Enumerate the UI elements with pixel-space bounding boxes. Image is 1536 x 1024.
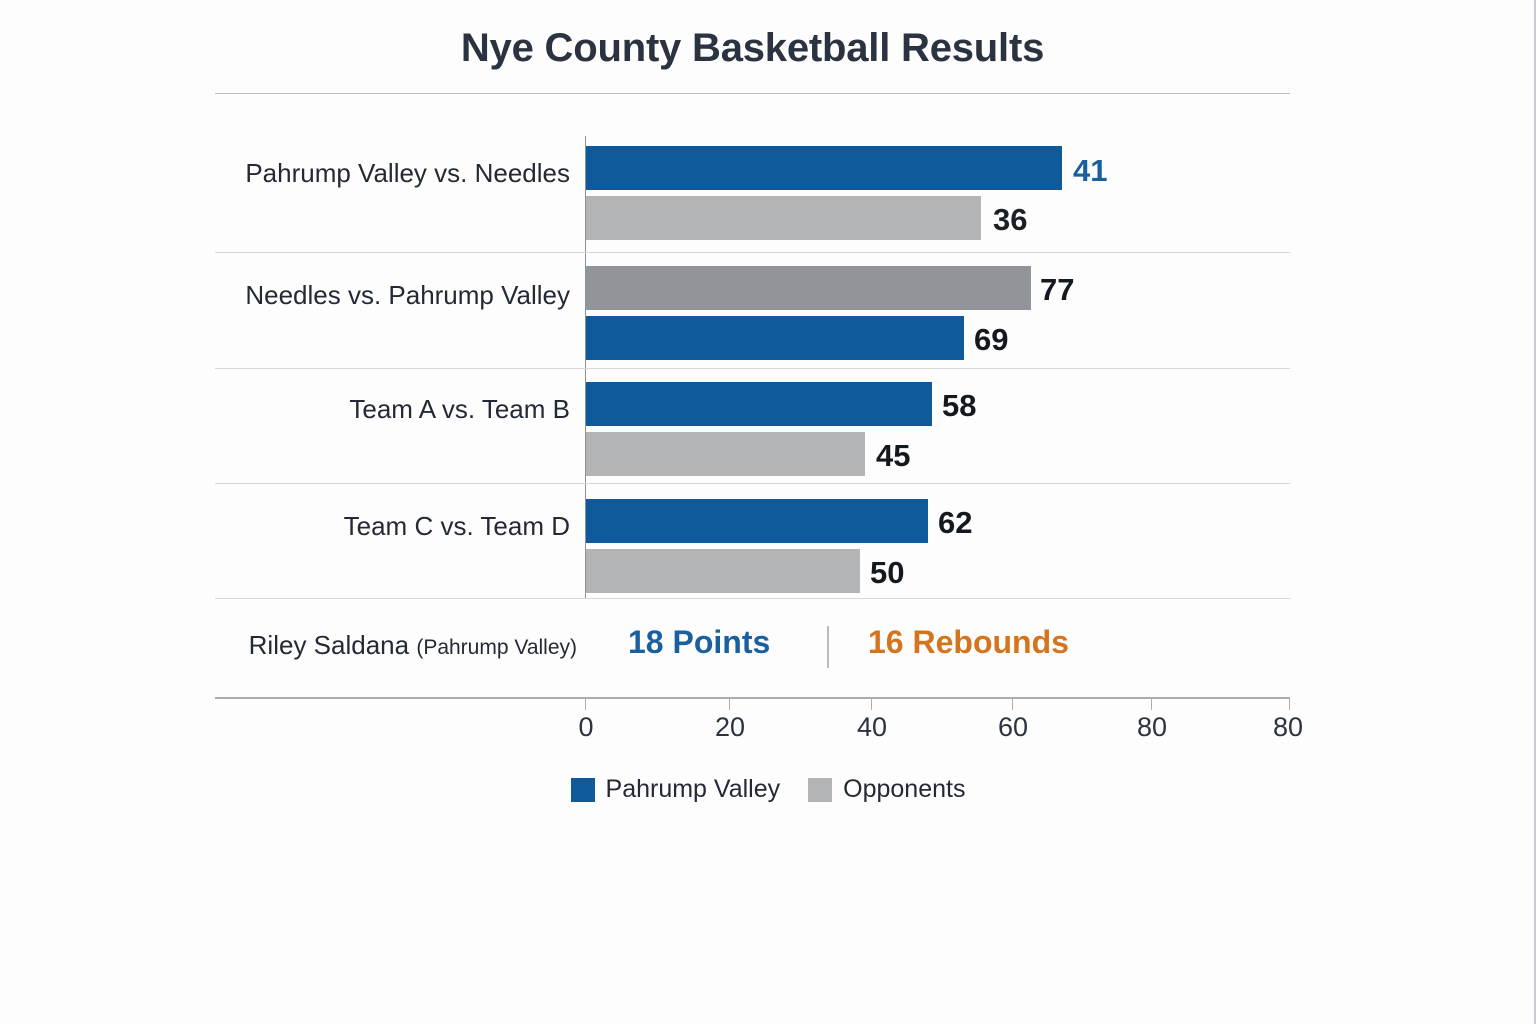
x-tick-label: 40: [857, 712, 887, 743]
player-name-label: Riley Saldana (Pahrump Valley): [215, 630, 577, 661]
legend-label: Opponents: [843, 775, 965, 804]
legend-item-opponents[interactable]: Opponents: [808, 775, 965, 804]
bar-group: Pahrump Valley vs. Needles 41 36: [0, 136, 1536, 254]
bar-value-label: 50: [870, 555, 904, 591]
x-tick-mark: [1289, 699, 1290, 710]
x-axis-line: [215, 697, 1290, 699]
bar-pahrump-valley[interactable]: [586, 499, 928, 543]
bar-group: Team A vs. Team B 58 45: [0, 370, 1536, 484]
bar-value-label: 36: [993, 202, 1027, 238]
bar-value-label: 69: [974, 322, 1008, 358]
bar-value-label: 41: [1073, 153, 1107, 189]
x-tick-label: 80: [1273, 712, 1303, 743]
bar-value-label: 62: [938, 505, 972, 541]
x-tick-label: 20: [715, 712, 745, 743]
group-divider: [215, 252, 1290, 253]
player-team-text: (Pahrump Valley): [416, 636, 577, 659]
bar-value-label: 58: [942, 388, 976, 424]
player-rebounds-stat: 16 Rebounds: [868, 624, 1069, 661]
x-tick-label: 60: [998, 712, 1028, 743]
bar-group: Team C vs. Team D 62 50: [0, 485, 1536, 599]
plot-area: Pahrump Valley vs. Needles 41 36 Needles…: [0, 0, 1536, 1024]
category-label: Team A vs. Team B: [215, 394, 570, 425]
legend-swatch-icon: [808, 778, 832, 802]
x-tick-mark: [1012, 699, 1013, 710]
x-tick-mark: [871, 699, 872, 710]
bar-pahrump-valley[interactable]: [586, 146, 1062, 190]
legend-swatch-icon: [571, 778, 595, 802]
bar-value-label: 77: [1040, 272, 1074, 308]
bar-opponents[interactable]: [586, 432, 865, 476]
x-tick-mark: [729, 699, 730, 710]
player-points-stat: 18 Points: [628, 624, 770, 661]
bar-opponents[interactable]: [586, 196, 981, 240]
legend-item-pahrump-valley[interactable]: Pahrump Valley: [571, 775, 781, 804]
bar-opponents[interactable]: [586, 549, 860, 593]
group-divider: [215, 368, 1290, 369]
group-divider: [215, 598, 1290, 599]
bar-pahrump-valley[interactable]: [586, 316, 964, 360]
bar-pahrump-valley[interactable]: [586, 382, 932, 426]
player-highlight-row: Riley Saldana (Pahrump Valley) 18 Points…: [0, 614, 1536, 676]
bar-value-label: 45: [876, 438, 910, 474]
category-label: Team C vs. Team D: [215, 511, 570, 542]
legend-label: Pahrump Valley: [606, 775, 781, 804]
category-label: Pahrump Valley vs. Needles: [215, 158, 570, 189]
x-tick-mark: [585, 699, 586, 710]
group-divider: [215, 483, 1290, 484]
player-name-text: Riley Saldana: [249, 630, 409, 660]
chart-legend: Pahrump Valley Opponents: [0, 775, 1536, 804]
bar-group: Needles vs. Pahrump Valley 77 69: [0, 254, 1536, 372]
bar-opponents[interactable]: [586, 266, 1031, 310]
x-tick-mark: [1151, 699, 1152, 710]
category-label: Needles vs. Pahrump Valley: [215, 280, 570, 311]
chart-container: Nye County Basketball Results Pahrump Va…: [0, 0, 1536, 1024]
stat-divider: [827, 626, 829, 668]
x-tick-label: 80: [1137, 712, 1167, 743]
x-tick-label: 0: [578, 712, 593, 743]
